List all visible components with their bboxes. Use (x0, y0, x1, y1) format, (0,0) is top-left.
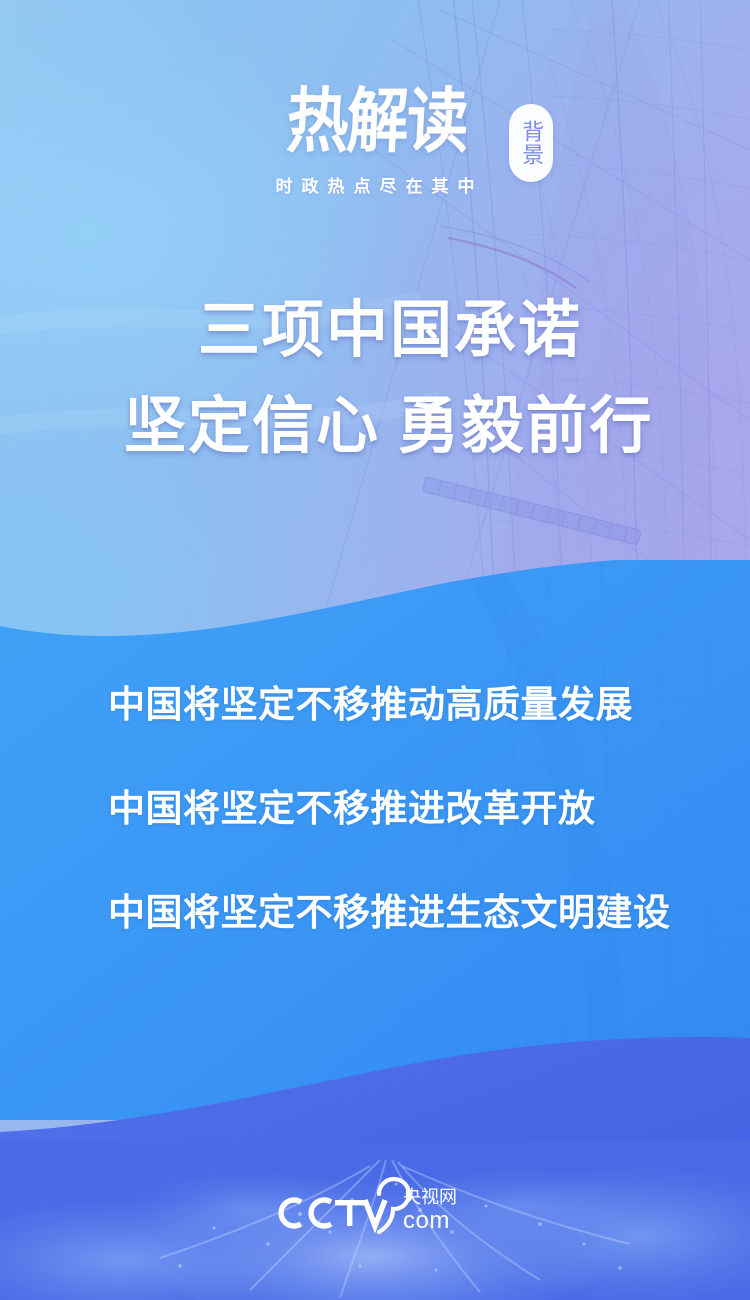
category-badge-label: 背景 (519, 120, 544, 166)
headline-line-1: 三项中国承诺 (198, 300, 750, 362)
headline-block: 三项中国承诺 坚定信心 勇毅前行 (0, 300, 750, 458)
brand-subtitle: 时政热点尽在其中 (0, 172, 750, 197)
logo-row: 热解读 背景 (279, 96, 471, 158)
list-item: 中国将坚定不移推动高质量发展 (108, 686, 750, 723)
list-item: 中国将坚定不移推进生态文明建设 (108, 894, 750, 931)
cctv-brand-tld: com (403, 1207, 450, 1234)
category-badge: 背景 (509, 104, 553, 182)
list-item: 中国将坚定不移推进改革开放 (108, 790, 750, 827)
cctv-logo-icon: 央视网 com (275, 1176, 475, 1240)
cctv-logo: 央视网 com (0, 1176, 750, 1240)
poster-root: 热解读 背景 时政热点尽在其中 三项中国承诺 坚定信心 勇毅前行 中国将坚定不移… (0, 0, 750, 1300)
brand-logo-text: 热解读 (279, 87, 474, 158)
points-list: 中国将坚定不移推动高质量发展 中国将坚定不移推进改革开放 中国将坚定不移推进生态… (0, 686, 750, 931)
header-logo-block: 热解读 背景 时政热点尽在其中 (0, 96, 750, 197)
cctv-brand-cn: 央视网 (403, 1187, 457, 1207)
headline-line-2: 坚定信心 勇毅前行 (124, 396, 750, 458)
